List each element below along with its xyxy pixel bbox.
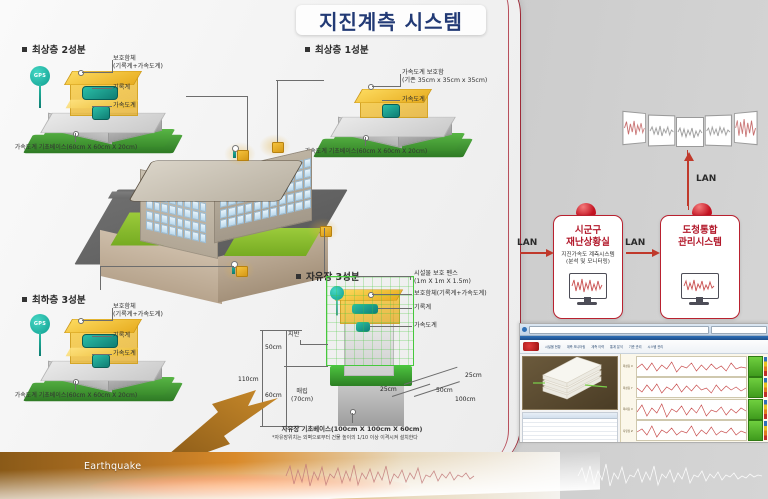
concrete-slab-top bbox=[330, 117, 456, 137]
dim-plan-25a: 25cm bbox=[465, 372, 482, 379]
box-province-monitor bbox=[681, 273, 719, 305]
leader-line-accel-tl bbox=[92, 106, 112, 107]
dim-plan-100: 100cm bbox=[455, 396, 476, 403]
leader-line-enclosure-tr bbox=[372, 86, 400, 87]
leader-line-ff-enclosure bbox=[372, 294, 412, 295]
box-province-system: 도청통합 관리시스템 bbox=[660, 215, 740, 319]
connector-bottom-left-v bbox=[100, 266, 101, 290]
leader-dot-ff-enclosure bbox=[368, 292, 374, 298]
connector-free-field-v bbox=[324, 228, 325, 274]
dim-tick-mid bbox=[284, 366, 328, 367]
leader-line-enclosure-bl bbox=[82, 320, 112, 321]
arrow-shaft bbox=[626, 252, 652, 253]
earthquake-banner: Earthquake bbox=[0, 452, 768, 499]
arrow-shaft bbox=[520, 252, 546, 253]
waveform-status-3 bbox=[748, 420, 763, 441]
browser-icon bbox=[522, 327, 527, 332]
riser-line-province-to-wall bbox=[687, 150, 688, 206]
dim-total-height: 110cm bbox=[238, 376, 259, 383]
label-fence: 시설물 보호 펜스 (1m X 1m X 1.5m) bbox=[414, 270, 471, 287]
waveform-row: 최상층 Y bbox=[623, 378, 767, 398]
waveform-status-0 bbox=[748, 356, 763, 377]
leader-dot-base-tr bbox=[363, 135, 369, 141]
dim-tick-top bbox=[260, 330, 302, 331]
leader-line-enclosure-tl bbox=[82, 72, 112, 73]
lightning-bolt-graphic bbox=[160, 386, 280, 462]
wall-panel-1 bbox=[622, 111, 645, 145]
leader-line-base-tr bbox=[365, 137, 366, 146]
dim-line-segments bbox=[286, 330, 287, 426]
dashboard-navbar[interactable]: 시설물 현황 계측 모니터링 계측 이력 통계 분석 기준 관리 시스템 관리 bbox=[520, 340, 768, 354]
leader-line-enclosure-tr-v bbox=[400, 74, 401, 87]
bullet-icon bbox=[22, 47, 27, 52]
waveform-label-1: 최상층 Y bbox=[623, 386, 636, 390]
protective-enclosure-top bbox=[64, 71, 142, 85]
wall-panel-3 bbox=[676, 117, 704, 147]
label-enclosure-bottom-left: 보호함체 (기록계+가속도계) bbox=[113, 303, 163, 320]
dashboard-nav-item-0[interactable]: 시설물 현황 bbox=[545, 344, 561, 349]
leader-line-accel-bl bbox=[92, 354, 112, 355]
label-enclosure-top-right: 가속도계 보호함 (기존 35cm x 35cm x 35cm) bbox=[402, 69, 487, 86]
dashboard-nav-item-4[interactable]: 기준 관리 bbox=[629, 344, 642, 349]
table-row[interactable] bbox=[523, 440, 617, 443]
arrow-head bbox=[684, 152, 694, 161]
note-free-field: *자유장위치는 외벽으로부터 건물 높이의 1/10 이상 이격시켜 설치한다 bbox=[272, 434, 418, 441]
label-burial: 매립 (70cm) bbox=[291, 388, 313, 405]
box-city-title-l1: 시군구 bbox=[554, 225, 622, 237]
waveform-legend-strip-0 bbox=[764, 357, 767, 376]
building-roof bbox=[128, 161, 304, 202]
leader-dot-enclosure-tl bbox=[78, 70, 84, 76]
label-fence-l1: 시설물 보호 펜스 bbox=[414, 270, 471, 278]
leader-line-ff-accel bbox=[370, 326, 412, 327]
dashboard-nav-item-5[interactable]: 시스템 관리 bbox=[648, 344, 664, 349]
caption-base-top-left: 가속도계 기초베이스(60cm X 60cm X 20cm) bbox=[0, 142, 152, 151]
box-city-subtitle-l1: 지진가속도 계측시스템 bbox=[554, 252, 622, 259]
dashboard-right-pane: 최상층 X 최상층 Y 최하층 X bbox=[620, 354, 768, 443]
waveform-chart-3[interactable] bbox=[636, 420, 747, 441]
caption-base-top-right: 가속도계 기초베이스(60cm X 60cm X 20cm) bbox=[290, 146, 442, 155]
label-ff-recorder: 기록계 bbox=[414, 304, 431, 312]
connector-top-left-v bbox=[247, 96, 248, 150]
monitor-screen bbox=[681, 273, 719, 299]
roof-sensor-marker-1 bbox=[233, 148, 247, 162]
waveform-label-2: 최하층 X bbox=[623, 407, 636, 411]
seismograph-trace bbox=[0, 452, 768, 499]
leader-line-fence-v bbox=[410, 276, 411, 280]
sensor-cube-icon bbox=[236, 266, 248, 277]
monitor-screen bbox=[569, 273, 607, 299]
leader-dot-ff-base bbox=[350, 409, 356, 415]
section-heading-bottom-left-text: 최하층 3성분 bbox=[32, 292, 86, 306]
dashboard-data-table[interactable] bbox=[522, 412, 618, 443]
browser-search-bar[interactable] bbox=[711, 326, 767, 334]
label-fence-l2: (1m X 1m X 1.5m) bbox=[414, 278, 471, 286]
roof-sensor-marker-2 bbox=[268, 140, 282, 154]
wall-panel-5 bbox=[734, 111, 757, 145]
dashboard-nav-item-3[interactable]: 통계 분석 bbox=[610, 344, 623, 349]
waveform-row: 자유장 Z bbox=[623, 421, 767, 441]
section-heading-top-left-text: 최상층 2성분 bbox=[32, 42, 86, 56]
leader-line-base-bl bbox=[75, 381, 76, 390]
label-ff-accelerometer: 가속도계 bbox=[414, 322, 437, 330]
gps-label: GPS bbox=[34, 321, 46, 327]
accelerometer-device bbox=[92, 354, 110, 368]
leader-line-ground bbox=[300, 344, 328, 345]
arrow-head bbox=[546, 249, 554, 257]
monitor-foot bbox=[577, 302, 597, 305]
waveform-chart-0[interactable] bbox=[636, 356, 747, 377]
label-accelerometer-bottom-left: 가속도계 bbox=[113, 350, 136, 358]
leader-line-base-tl bbox=[75, 133, 76, 142]
section-heading-top-right: 최상층 1성분 bbox=[305, 42, 369, 56]
label-burial-l2: (70cm) bbox=[291, 396, 313, 404]
page-title: 지진계측 시스템 bbox=[296, 5, 486, 35]
label-accelerometer-top-right: 가속도계 bbox=[402, 96, 425, 104]
free-field-sensor-marker bbox=[316, 224, 330, 238]
label-enclosure-top-left: 보호함체 (기록계+가속도계) bbox=[113, 55, 163, 72]
box-province-title: 도청통합 관리시스템 bbox=[661, 225, 739, 249]
free-field-protective-fence bbox=[326, 276, 414, 366]
accelerometer-device bbox=[382, 104, 400, 118]
page-title-text: 지진계측 시스템 bbox=[319, 6, 463, 35]
waveform-label-0: 최상층 X bbox=[623, 364, 636, 368]
bullet-icon bbox=[22, 297, 27, 302]
label-recorder-top-left: 기록계 bbox=[113, 84, 130, 92]
section-heading-top-left: 최상층 2성분 bbox=[22, 42, 86, 56]
waveform-legend-strip-2 bbox=[764, 400, 767, 419]
box-city-subtitle: 지진가속도 계측시스템 (분석 및 모니터링) bbox=[554, 252, 622, 267]
label-enclosure-top-left-l2: (기록계+가속도계) bbox=[113, 63, 163, 71]
section-heading-top-right-text: 최상층 1성분 bbox=[315, 42, 369, 56]
gps-ball-icon: GPS bbox=[30, 314, 50, 334]
label-enclosure-bottom-left-l2: (기록계+가속도계) bbox=[113, 311, 163, 319]
waveform-status-2 bbox=[748, 399, 763, 420]
dashboard-left-pane bbox=[520, 354, 620, 443]
section-heading-bottom-left: 최하층 3성분 bbox=[22, 292, 86, 306]
box-province-title-l1: 도청통합 bbox=[661, 225, 739, 237]
waveform-label-3: 자유장 Z bbox=[623, 429, 636, 433]
monitor-foot bbox=[689, 302, 709, 305]
building-3d-model-viewer[interactable] bbox=[522, 356, 618, 410]
box-city-title-l2: 재난상황실 bbox=[554, 237, 622, 249]
waveform-row: 최하층 X bbox=[623, 399, 767, 419]
gps-ball-icon: GPS bbox=[30, 66, 50, 86]
label-accelerometer-top-left: 가속도계 bbox=[113, 102, 136, 110]
label-burial-l1: 매립 bbox=[291, 388, 313, 396]
arrow-head bbox=[652, 249, 660, 257]
sensor-cube-icon bbox=[272, 142, 284, 153]
gps-pole bbox=[39, 84, 41, 108]
label-ff-enclosure: 보호함체(기록계+가속도계) bbox=[414, 290, 487, 298]
caption-free-field-base: 자유장 기초베이스(100cm X 100cm X 60cm) bbox=[272, 424, 432, 433]
accelerometer-device bbox=[92, 106, 110, 120]
dashboard-logo bbox=[523, 342, 539, 351]
waveform-legend-strip-3 bbox=[764, 421, 767, 440]
browser-chrome bbox=[520, 324, 768, 336]
monitoring-dashboard-screenshot[interactable]: 시설물 현황 계측 모니터링 계측 이력 통계 분석 기준 관리 시스템 관리 bbox=[519, 323, 768, 443]
connector-bottom-left-to-building bbox=[100, 266, 234, 267]
box-province-title-l2: 관리시스템 bbox=[661, 237, 739, 249]
dim-above-ground: 50cm bbox=[265, 344, 282, 351]
dim-plan-25b: 25cm bbox=[380, 386, 397, 393]
box-city-monitor bbox=[569, 273, 607, 305]
infographic-canvas: 지진계측 시스템 최상층 2성분 GPS 보호함체 (기록계+가속도계) 기록계… bbox=[0, 0, 768, 499]
sensor-cube-icon bbox=[320, 226, 332, 237]
sensor-cube-icon bbox=[237, 150, 249, 161]
waveform-row: 최상층 X bbox=[623, 356, 767, 376]
gps-label: GPS bbox=[34, 73, 46, 79]
dashboard-nav-item-2[interactable]: 계측 이력 bbox=[591, 344, 604, 349]
caption-base-bottom-left: 가속도계 기초베이스(60cm X 60cm X 20cm) bbox=[0, 390, 152, 399]
label-ground: 지반 bbox=[288, 331, 299, 339]
leader-line-recorder-tl bbox=[92, 88, 112, 89]
dashboard-footer-bar bbox=[623, 442, 767, 443]
base-sensor-marker bbox=[232, 264, 246, 278]
bullet-icon bbox=[305, 47, 310, 52]
leader-dot-base-bl bbox=[73, 379, 79, 385]
leader-line-ff-recorder bbox=[378, 308, 412, 309]
waveform-chart-2[interactable] bbox=[636, 399, 747, 420]
leader-line-ff-base bbox=[352, 413, 353, 423]
leader-line-fence bbox=[356, 276, 410, 277]
dim-plan-50: 50cm bbox=[436, 387, 453, 394]
leader-dot-enclosure-bl bbox=[78, 318, 84, 324]
leader-dot-base-tl bbox=[73, 131, 79, 137]
wall-panel-2 bbox=[648, 115, 675, 147]
box-city-title: 시군구 재난상황실 bbox=[554, 225, 622, 249]
earthquake-banner-label: Earthquake bbox=[84, 461, 141, 472]
leader-line-accel-tr bbox=[382, 100, 400, 101]
connector-top-right-v bbox=[277, 80, 278, 142]
box-city-disaster-center: 시군구 재난상황실 지진가속도 계측시스템 (분석 및 모니터링) bbox=[553, 215, 623, 319]
waveform-chart-1[interactable] bbox=[636, 377, 747, 398]
gps-pole bbox=[39, 332, 41, 356]
leader-line-ground-v bbox=[300, 340, 301, 345]
waveform-status-1 bbox=[748, 377, 763, 398]
lan-label-3: LAN bbox=[696, 174, 716, 184]
dashboard-body: 최상층 X 최상층 Y 최하층 X bbox=[520, 354, 768, 443]
lan-label-1: LAN bbox=[517, 238, 537, 248]
connector-top-right-to-building bbox=[276, 80, 324, 81]
protective-enclosure-top bbox=[64, 319, 142, 333]
waveform-legend-strip-1 bbox=[764, 378, 767, 397]
lan-label-2: LAN bbox=[625, 238, 645, 248]
monitoring-video-wall bbox=[622, 112, 756, 150]
browser-address-bar[interactable] bbox=[529, 326, 709, 334]
label-enclosure-top-right-l2: (기존 35cm x 35cm x 35cm) bbox=[402, 77, 487, 85]
connector-top-left-to-building bbox=[186, 96, 248, 97]
leader-line-recorder-bl bbox=[92, 336, 112, 337]
leader-dot-enclosure-tr bbox=[368, 84, 374, 90]
wall-panel-4 bbox=[705, 115, 732, 147]
dashboard-nav-item-1[interactable]: 계측 모니터링 bbox=[567, 344, 586, 349]
box-city-subtitle-l2: (분석 및 모니터링) bbox=[554, 259, 622, 266]
label-recorder-bottom-left: 기록계 bbox=[113, 332, 130, 340]
bullet-icon bbox=[296, 274, 301, 279]
